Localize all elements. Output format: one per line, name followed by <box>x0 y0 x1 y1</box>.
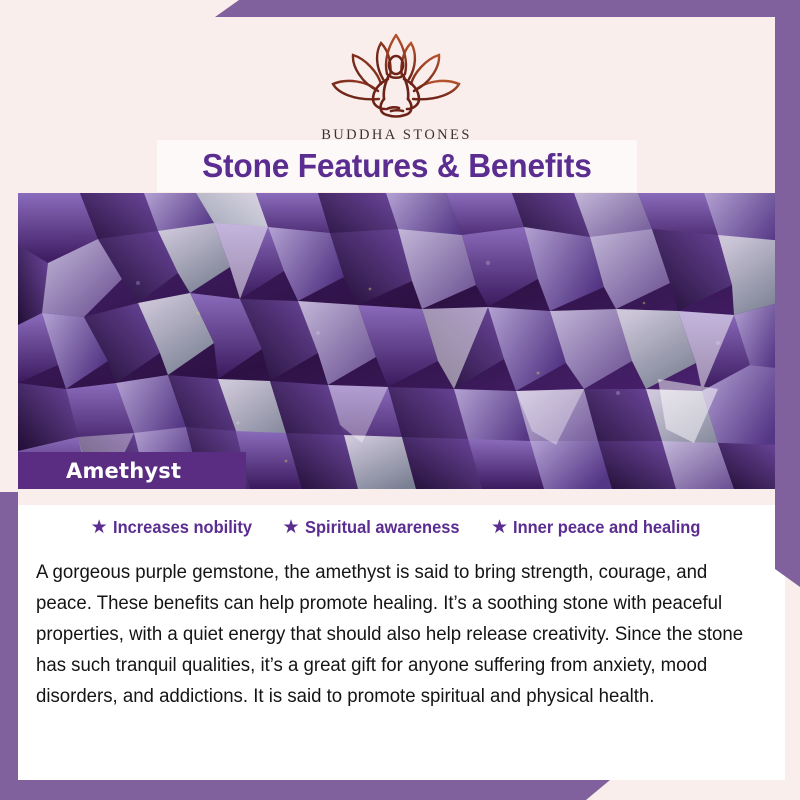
header: BUDDHA STONES Stone Features & Benefits <box>18 17 775 193</box>
lotus-meditation-figure-icon <box>321 29 471 125</box>
frame-right-bar <box>775 17 800 587</box>
infographic-poster: BUDDHA STONES Stone Features & Benefits <box>0 0 800 800</box>
brand-logo: BUDDHA STONES <box>321 29 472 144</box>
stone-description: A gorgeous purple gemstone, the amethyst… <box>36 557 748 712</box>
frame-top-bar <box>215 0 800 17</box>
frame-left-bar <box>0 492 18 800</box>
star-icon: ★ <box>283 518 300 537</box>
page-title: Stone Features & Benefits <box>202 147 592 185</box>
frame-bottom-bar <box>0 780 610 800</box>
benefit-item-1: ★ Spiritual awareness <box>283 517 469 538</box>
amethyst-photo <box>18 193 785 489</box>
benefit-item-2: ★ Inner peace and healing <box>491 517 712 538</box>
content-area: ★ Increases nobility ★ Spiritual awarene… <box>18 489 785 780</box>
benefit-label: Spiritual awareness <box>305 517 460 538</box>
amethyst-crystal-cluster-illustration <box>18 193 785 489</box>
star-icon: ★ <box>491 518 508 537</box>
title-plate: Stone Features & Benefits <box>157 140 637 192</box>
benefit-label: Inner peace and healing <box>513 517 700 538</box>
stone-name-banner: Amethyst <box>18 452 246 489</box>
benefit-item-0: ★ Increases nobility <box>91 517 261 538</box>
benefits-list: ★ Increases nobility ★ Spiritual awarene… <box>18 517 785 538</box>
star-icon: ★ <box>91 518 108 537</box>
benefit-label: Increases nobility <box>113 517 252 538</box>
stone-name-label: Amethyst <box>66 459 181 483</box>
